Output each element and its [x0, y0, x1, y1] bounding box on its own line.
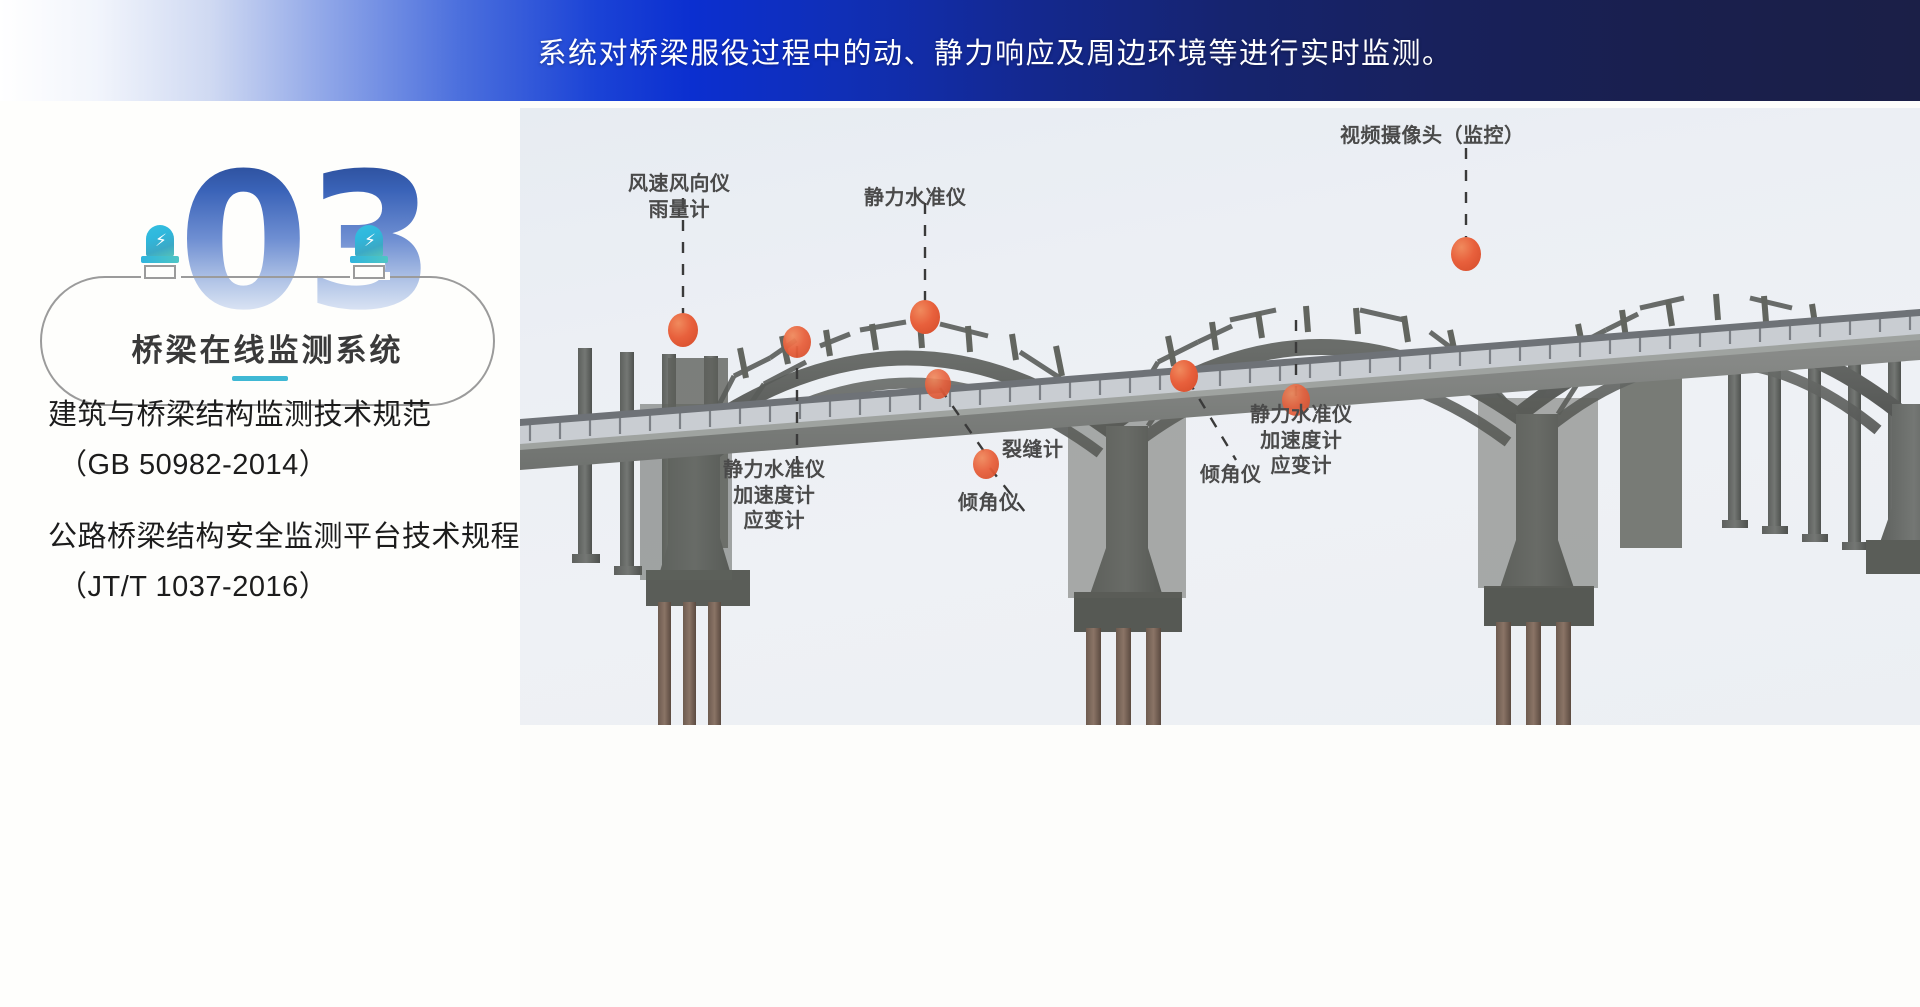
lightning-bolt-icon: ⚡ — [364, 232, 375, 250]
label-line: 风速风向仪 — [628, 172, 731, 198]
signal-lamp-right: ⚡ — [350, 225, 388, 271]
pier-2 — [1068, 408, 1186, 725]
lamp-base — [350, 256, 388, 263]
header-title: 系统对桥梁服役过程中的动、静力响应及周边环境等进行实时监测。 — [537, 30, 1452, 72]
label-line: 应变计 — [1250, 454, 1353, 480]
system-title: 桥梁在线监测系统 — [40, 325, 495, 370]
standard-item-1: 建筑与桥梁结构监测技术规范 （GB 50982-2014） — [48, 391, 432, 483]
sensor-dot-inclinometer-right — [1170, 360, 1198, 392]
lamp-housing-box — [144, 265, 176, 279]
standard-name: 建筑与桥梁结构监测技术规范 — [48, 391, 432, 433]
standard-item-2: 公路桥梁结构安全监测平台技术规程 （JT/T 1037-2016） — [48, 513, 520, 605]
label-line: 静力水准仪 — [864, 186, 967, 212]
signal-lamp-left: ⚡ — [141, 225, 179, 271]
label-crack-meter: 裂缝计 — [1002, 438, 1064, 464]
lamp-housing-box — [353, 265, 385, 279]
header-banner: 系统对桥梁服役过程中的动、静力响应及周边环境等进行实时监测。 — [0, 0, 1920, 101]
label-line: 雨量计 — [628, 198, 731, 224]
title-underline-accent — [232, 376, 288, 381]
label-video-camera: 视频摄像头（监控） — [1340, 124, 1525, 150]
label-line: 视频摄像头（监控） — [1340, 124, 1525, 150]
lamp-base — [141, 256, 179, 263]
label-static-level-right: 静力水准仪 加速度计 应变计 — [1250, 403, 1353, 480]
label-inclinometer-left: 倾角仪 — [958, 491, 1020, 517]
standard-name: 公路桥梁结构安全监测平台技术规程 — [48, 513, 520, 555]
label-line: 应变计 — [723, 509, 826, 535]
label-line: 加速度计 — [1250, 429, 1353, 455]
sensor-dot-static-level-top — [910, 300, 940, 334]
label-line: 加速度计 — [723, 484, 826, 510]
sensor-dot-static-level-left — [783, 326, 811, 358]
sensor-dot-wind-rain — [668, 313, 698, 347]
label-static-level-top: 静力水准仪 — [864, 186, 967, 212]
left-info-column: 03 ⚡ ⚡ 桥梁在线监测系统 建筑与桥梁结构监测技术规范 （GB 50982-… — [0, 101, 520, 1007]
label-static-level-left: 静力水准仪 加速度计 应变计 — [723, 458, 826, 535]
bridge-diagram-panel: 风速风向仪 雨量计 静力水准仪 视频摄像头（监控） 静力水准仪 加速度计 应变计… — [520, 108, 1920, 725]
label-line: 静力水准仪 — [1250, 403, 1353, 429]
sensor-dot-inclinometer-left — [973, 449, 999, 479]
label-line: 裂缝计 — [1002, 438, 1064, 464]
sensor-dot-video-camera — [1451, 237, 1481, 271]
lightning-bolt-icon: ⚡ — [155, 232, 166, 250]
standard-code: （GB 50982-2014） — [58, 441, 432, 483]
label-line: 倾角仪 — [958, 491, 1020, 517]
pier-3 — [1478, 398, 1598, 725]
label-line: 静力水准仪 — [723, 458, 826, 484]
sensor-dot-crack-meter — [925, 369, 951, 399]
label-wind-rain: 风速风向仪 雨量计 — [628, 172, 731, 223]
standard-code: （JT/T 1037-2016） — [58, 563, 520, 605]
